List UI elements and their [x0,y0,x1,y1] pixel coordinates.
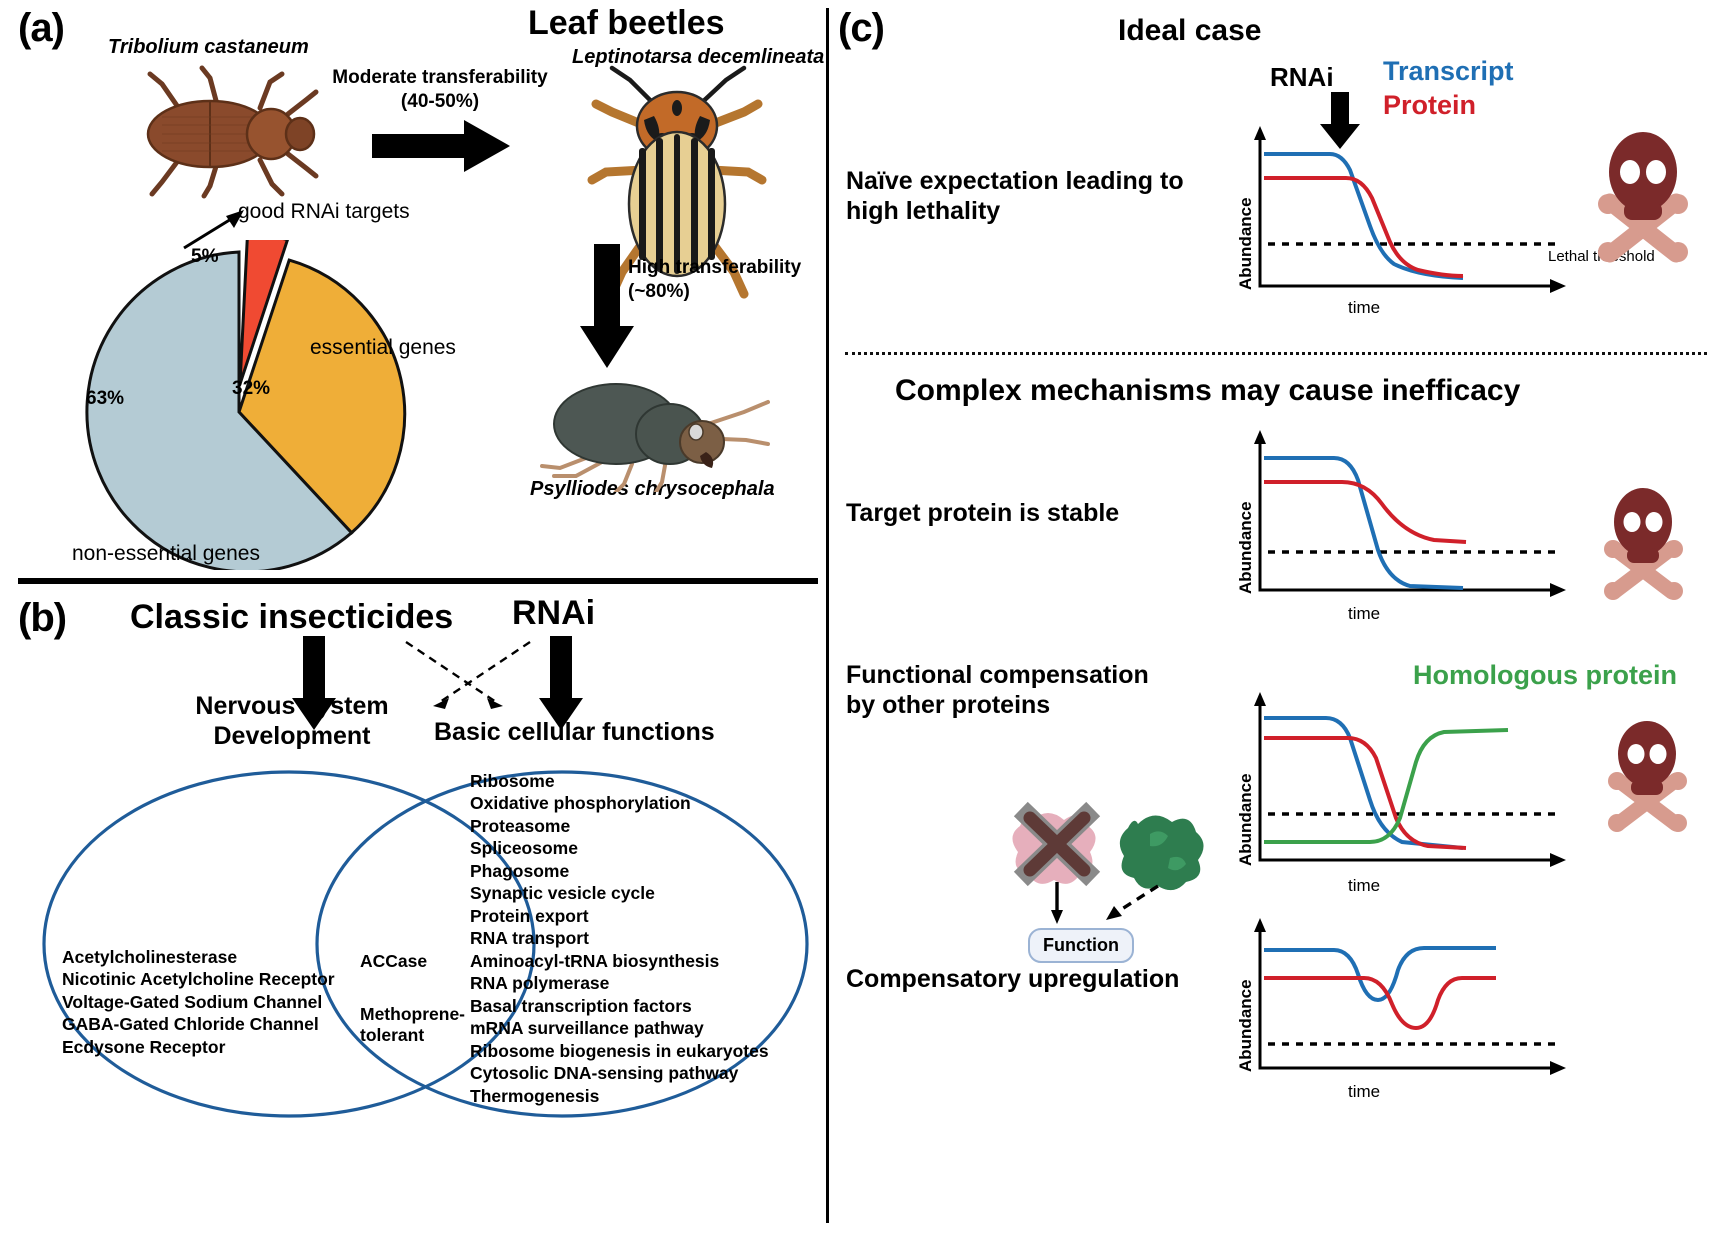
list-item: Thermogenesis [470,1085,769,1107]
chart1-x-axis-label: time [1348,298,1380,318]
non-essential-genes-label: non-essential genes [72,542,260,566]
venn-left-items: AcetylcholinesteraseNicotinic Acetylchol… [62,946,335,1058]
venn-intersection-item-1: ACCase [360,950,427,972]
high-transferability-arrow [578,244,636,370]
panel-a-letter: (a) [18,6,64,51]
chart1-y-axis-label: Abundance [1236,197,1256,290]
panel-c-letter: (c) [838,6,884,51]
methoprene-line2: tolerant [360,1025,465,1046]
skull-and-crossbones-icon-3 [1600,720,1696,838]
legend-homologous-protein: Homologous protein [1413,660,1677,691]
list-item: Acetylcholinesterase [62,946,335,968]
chart-compensatory-upregulation [1238,918,1568,1088]
list-item: Nicotinic Acetylcholine Receptor [62,968,335,990]
methoprene-line1: Methoprene- [360,1004,465,1025]
list-item: RNA polymerase [470,972,769,994]
list-item: Synaptic vesicle cycle [470,882,769,904]
high-transferability-line2: (~80%) [628,280,848,304]
venn-right-items: RibosomeOxidative phosphorylationProteas… [470,770,769,1107]
series-protein [1264,482,1466,542]
series-transcript [1264,948,1496,1000]
list-item: RNA transport [470,927,769,949]
venn-left-ellipse [44,772,534,1116]
chart2-x-axis-label: time [1348,604,1380,624]
high-transferability-label: High transferability (~80%) [628,256,848,304]
compensation-line2: by other proteins [846,690,1149,720]
list-item: Voltage-Gated Sodium Channel [62,991,335,1013]
chart-target-protein-stable [1238,430,1568,610]
rnai-to-basic-arrow [539,636,583,730]
tribolium-beetle-illustration [110,62,340,202]
panel-b-letter: (b) [18,596,66,641]
basic-cellular-functions-subhead: Basic cellular functions [434,718,715,748]
row-label-functional-compensation: Functional compensation by other protein… [846,660,1149,720]
list-item: mRNA surveillance pathway [470,1017,769,1039]
compensation-line1: Functional compensation [846,660,1149,690]
list-item: Cytosolic DNA-sensing pathway [470,1062,769,1084]
rnai-arrow-label: RNAi [1270,62,1334,93]
species-tribolium-label: Tribolium castaneum [108,36,309,59]
pie-value-essential: 32% [232,378,270,400]
chart3-x-axis-label: time [1348,876,1380,896]
chart3-y-axis-label: Abundance [1236,773,1256,866]
list-item: Oxidative phosphorylation [470,792,769,814]
homologous-protein-icon [1120,815,1204,890]
row-label-compensatory-upregulation: Compensatory upregulation [846,964,1179,994]
legend-transcript: Transcript [1383,56,1514,87]
function-box: Function [1028,928,1134,963]
list-item: Basal transcription factors [470,995,769,1017]
moderate-transferability-arrow [372,118,512,174]
psylliodes-beetle-illustration [520,372,770,492]
nervous-system-development-subhead: Nervous system Development [192,692,392,751]
list-item: Phagosome [470,860,769,882]
series-protein [1264,178,1463,276]
chart4-y-axis-label: Abundance [1236,979,1256,1072]
naive-line2: high lethality [846,196,1184,226]
panel-vertical-divider [826,8,829,1223]
list-item: Spliceosome [470,837,769,859]
series-transcript [1264,154,1463,278]
chart-functional-compensation [1238,692,1568,882]
list-item: Protein export [470,905,769,927]
row-label-target-protein-stable: Target protein is stable [846,498,1119,528]
skull-and-crossbones-icon-2 [1596,486,1692,606]
panel-horizontal-divider [18,578,818,584]
legend-protein: Protein [1383,90,1476,121]
chart-ideal-case [1238,126,1568,306]
protein-compensation-icons [1010,800,1220,930]
moderate-transferability-line2: (40-50%) [330,90,550,114]
panel-c-dotted-divider [845,352,1707,355]
venn-intersection-item-2: Methoprene- tolerant [360,1004,465,1045]
pie-value-non-essential: 63% [86,388,124,410]
list-item: Proteasome [470,815,769,837]
subhead-development: Development [192,722,392,752]
rnai-header: RNAi [512,594,595,633]
high-transferability-line1: High transferability [628,256,848,280]
classic-insecticides-header: Classic insecticides [130,598,453,637]
chart4-x-axis-label: time [1348,1082,1380,1102]
complex-mechanisms-title: Complex mechanisms may cause inefficacy [895,374,1520,408]
pie-value-good-targets: 5% [191,246,218,268]
good-rnai-targets-label: good RNAi targets [238,200,410,224]
ideal-case-title: Ideal case [1118,14,1261,48]
naive-line1: Naïve expectation leading to [846,166,1184,196]
series-transcript [1264,458,1463,588]
series-protein [1264,738,1466,848]
list-item: Ribosome biogenesis in eukaryotes [470,1040,769,1062]
skull-and-crossbones-icon-1 [1588,130,1698,270]
essential-genes-label: essential genes [310,336,456,360]
subhead-nervous-system: Nervous system [192,692,392,722]
list-item: Aminoacyl-tRNA biosynthesis [470,950,769,972]
list-item: GABA-Gated Chloride Channel [62,1013,335,1035]
row-label-naive-expectation: Naïve expectation leading to high lethal… [846,166,1184,226]
moderate-transferability-label: Moderate transferability (40-50%) [330,66,550,114]
list-item: Ribosome [470,770,769,792]
chart2-y-axis-label: Abundance [1236,501,1256,594]
leaf-beetles-title: Leaf beetles [528,4,725,43]
moderate-transferability-line1: Moderate transferability [330,66,550,90]
list-item: Ecdysone Receptor [62,1036,335,1058]
series-protein [1264,978,1496,1028]
